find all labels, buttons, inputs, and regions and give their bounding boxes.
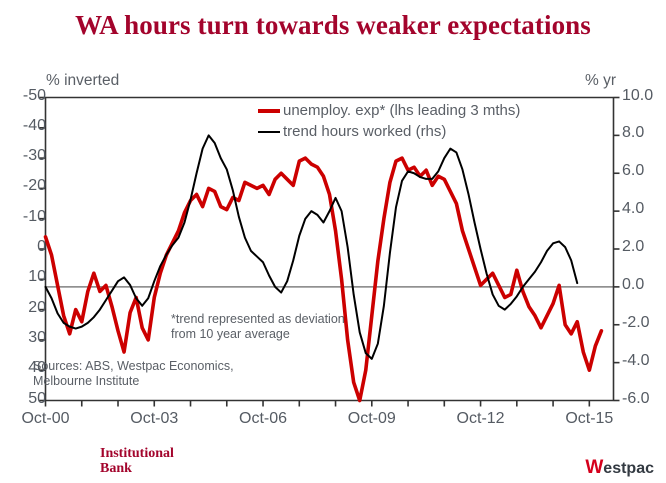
westpac-logo-w-icon: W (585, 458, 603, 477)
left-axis-tick-label: 50 (6, 390, 46, 408)
left-axis-tick-label: -20 (6, 177, 46, 195)
chart-sources: Sources: ABS, Westpac Economics, Melbour… (33, 359, 234, 389)
right-axis-tick-label: 6.0 (622, 162, 666, 180)
legend-label-unemployment-expectations: unemploy. exp* (lhs leading 3 mths) (283, 102, 520, 119)
left-axis-unit-label: % inverted (46, 72, 119, 90)
chart-container: WA hours turn towards weaker expectation… (0, 0, 666, 483)
left-axis-tick-label: 20 (6, 299, 46, 317)
left-axis-tick-label: -30 (6, 147, 46, 165)
left-axis-tick-label: -40 (6, 117, 46, 135)
institutional-bank-wordmark: Institutional Bank (100, 446, 174, 476)
left-axis-tick-label: -50 (6, 87, 46, 105)
right-axis-tick-label: 4.0 (622, 200, 666, 218)
right-axis-tick-label: -6.0 (622, 390, 666, 408)
right-axis-tick-label: -4.0 (622, 352, 666, 370)
westpac-logo: W estpac (585, 458, 654, 478)
chart-title: WA hours turn towards weaker expectation… (0, 10, 666, 41)
right-axis-tick-label: 8.0 (622, 124, 666, 142)
westpac-logo-text: estpac (603, 459, 654, 478)
left-axis-tick-label: -10 (6, 208, 46, 226)
x-axis-tick-label: Oct-09 (332, 410, 412, 428)
right-axis-tick-label: -2.0 (622, 314, 666, 332)
right-axis-tick-label: 2.0 (622, 238, 666, 256)
left-axis-tick-label: 10 (6, 268, 46, 286)
chart-legend: unemploy. exp* (lhs leading 3 mths) tren… (258, 100, 520, 142)
legend-item-unemployment-expectations: unemploy. exp* (lhs leading 3 mths) (258, 100, 520, 121)
left-axis-tick-label: 30 (6, 329, 46, 347)
right-axis-unit-label: % yr (585, 72, 616, 90)
x-axis-tick-label: Oct-12 (441, 410, 521, 428)
x-axis-tick-label: Oct-03 (114, 410, 194, 428)
x-axis-tick-label: Oct-00 (6, 410, 86, 428)
x-axis-tick-label: Oct-06 (223, 410, 303, 428)
left-axis-tick-label: 0 (6, 238, 46, 256)
legend-label-trend-hours-worked: trend hours worked (rhs) (283, 123, 446, 140)
legend-swatch-red-line-icon (258, 109, 280, 113)
legend-item-trend-hours-worked: trend hours worked (rhs) (258, 121, 520, 142)
right-axis-tick-label: 0.0 (622, 276, 666, 294)
x-axis-tick-label: Oct-15 (549, 410, 629, 428)
legend-swatch-black-line-icon (258, 131, 280, 133)
right-axis-tick-label: 10.0 (622, 87, 666, 105)
chart-annotation-note: *trend represented as deviation from 10 … (171, 312, 345, 342)
